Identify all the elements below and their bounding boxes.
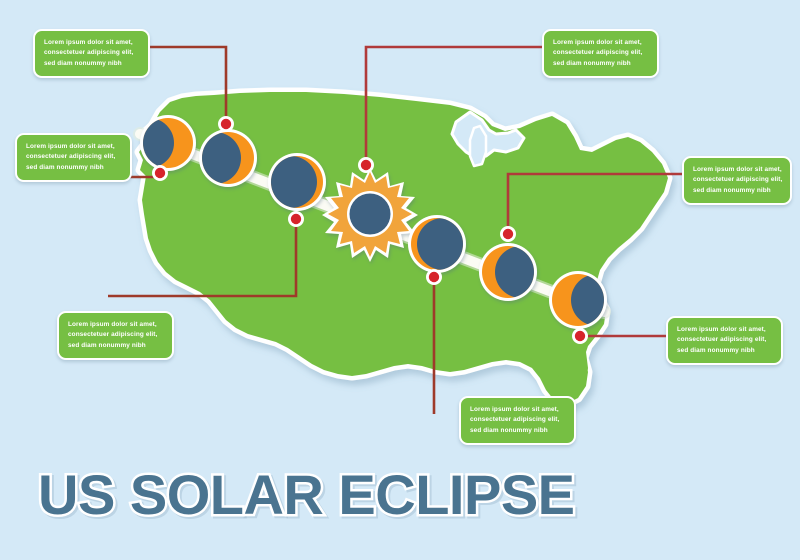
callout-line: consectetuer adipiscing elit, — [44, 48, 140, 58]
callout-line: sed diam nonummy nibh — [68, 341, 164, 351]
callout-bottom-right[interactable]: Lorem ipsum dolor sit amet, consectetuer… — [666, 316, 783, 365]
lake-michigan — [470, 126, 486, 166]
callout-line: Lorem ipsum dolor sit amet, — [677, 325, 773, 335]
callout-left[interactable]: Lorem ipsum dolor sit amet, consectetuer… — [15, 133, 132, 182]
callout-line: consectetuer adipiscing elit, — [68, 330, 164, 340]
callout-line: Lorem ipsum dolor sit amet, — [693, 165, 782, 175]
callout-line: consectetuer adipiscing elit, — [470, 415, 566, 425]
callout-right[interactable]: Lorem ipsum dolor sit amet, consectetuer… — [682, 156, 792, 205]
marker-1[interactable] — [218, 116, 234, 132]
page-title: US SOLAR ECLIPSE — [38, 462, 575, 527]
callout-bottom-center[interactable]: Lorem ipsum dolor sit amet, consectetuer… — [459, 396, 576, 445]
callout-line: Lorem ipsum dolor sit amet, — [44, 38, 140, 48]
callout-line: sed diam nonummy nibh — [26, 163, 122, 173]
callout-line: sed diam nonummy nibh — [470, 426, 566, 436]
eclipse-phase-1 — [124, 115, 196, 171]
callout-line: sed diam nonummy nibh — [553, 59, 649, 69]
callout-line: sed diam nonummy nibh — [693, 186, 782, 196]
callout-line: Lorem ipsum dolor sit amet, — [470, 405, 566, 415]
marker-2[interactable] — [358, 157, 374, 173]
callout-line: consectetuer adipiscing elit, — [553, 48, 649, 58]
callout-line: sed diam nonummy nibh — [677, 346, 773, 356]
callout-bottom-left[interactable]: Lorem ipsum dolor sit amet, consectetuer… — [57, 311, 174, 360]
callout-line: Lorem ipsum dolor sit amet, — [553, 38, 649, 48]
callout-top-left[interactable]: Lorem ipsum dolor sit amet, consectetuer… — [33, 29, 150, 78]
marker-3[interactable] — [152, 165, 168, 181]
callout-line: consectetuer adipiscing elit, — [26, 152, 122, 162]
us-solar-eclipse-infographic: Lorem ipsum dolor sit amet, consectetuer… — [0, 0, 800, 560]
marker-6[interactable] — [426, 269, 442, 285]
marker-4[interactable] — [500, 226, 516, 242]
marker-5[interactable] — [288, 211, 304, 227]
callout-top-right[interactable]: Lorem ipsum dolor sit amet, consectetuer… — [542, 29, 659, 78]
callout-line: Lorem ipsum dolor sit amet, — [26, 142, 122, 152]
marker-7[interactable] — [572, 328, 588, 344]
callout-line: Lorem ipsum dolor sit amet, — [68, 320, 164, 330]
callout-line: consectetuer adipiscing elit, — [693, 175, 782, 185]
eclipse-phase-7 — [549, 271, 623, 329]
callout-line: sed diam nonummy nibh — [44, 59, 140, 69]
callout-line: consectetuer adipiscing elit, — [677, 335, 773, 345]
